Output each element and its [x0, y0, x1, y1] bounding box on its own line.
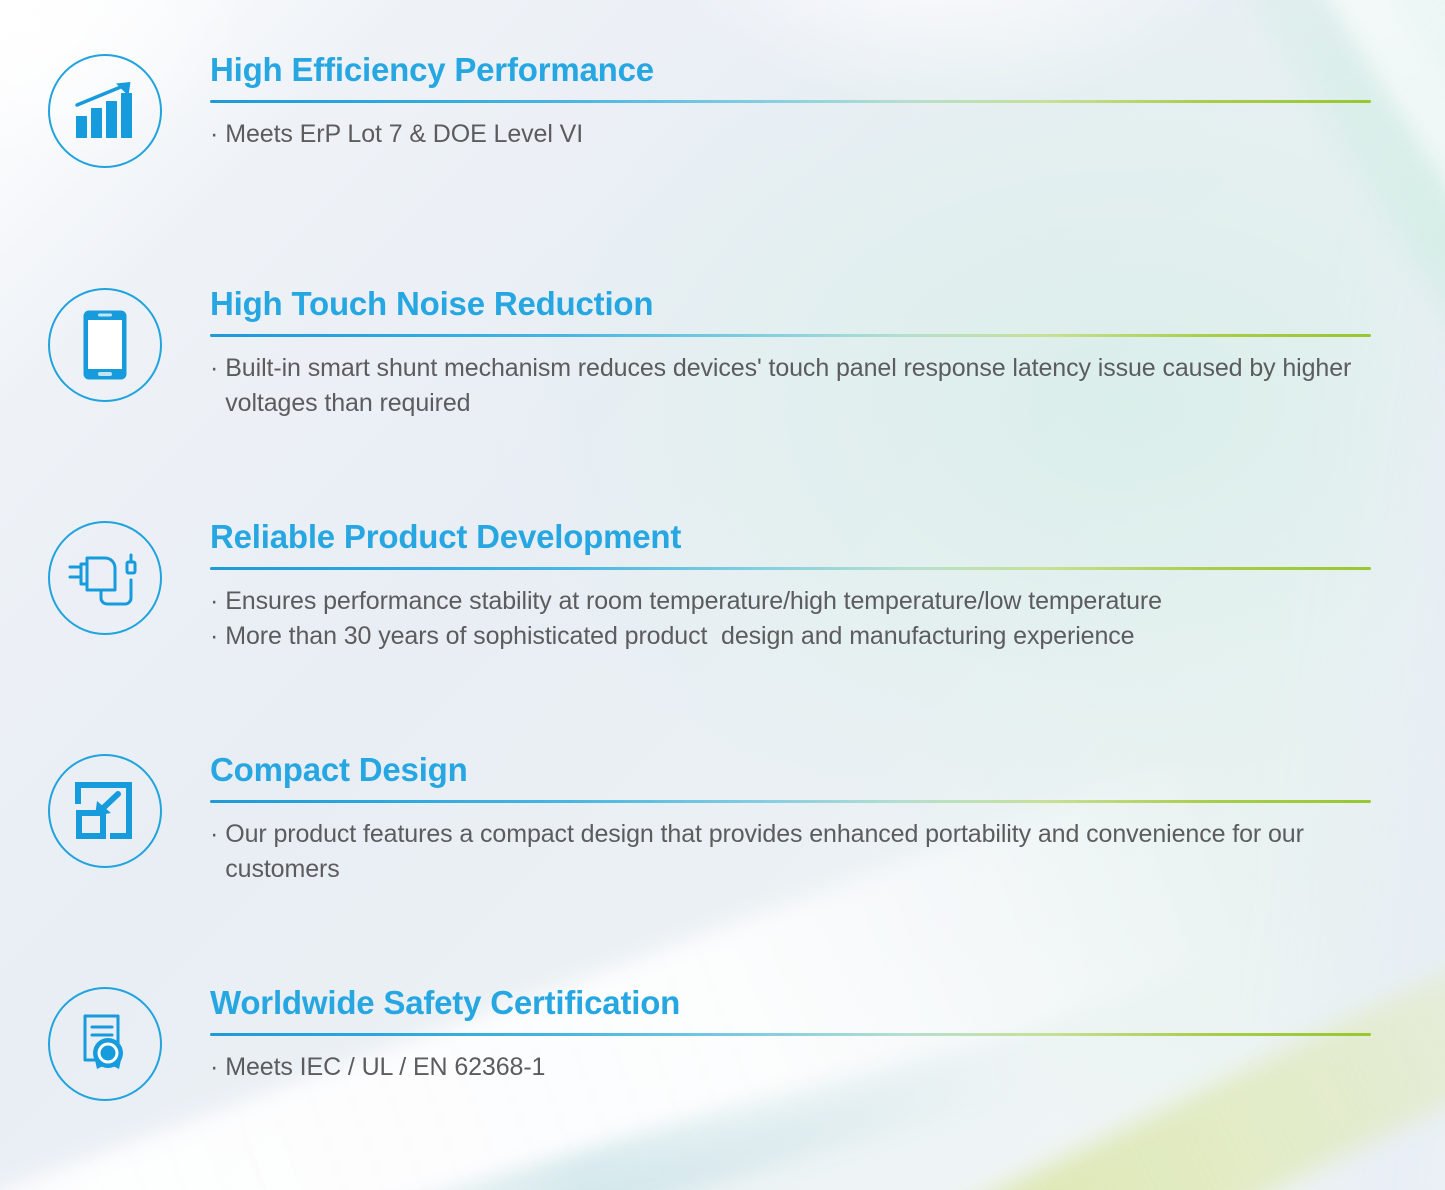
feature-title: High Efficiency Performance — [210, 52, 1371, 89]
feature-text-container: High Touch Noise Reduction · Built-in sm… — [210, 286, 1445, 422]
bullet-item: · More than 30 years of sophisticated pr… — [210, 619, 1371, 655]
feature-icon-container — [0, 985, 210, 1101]
feature-text-container: Reliable Product Development · Ensures p… — [210, 519, 1445, 655]
feature-row-compact-design: Compact Design · Our product features a … — [0, 752, 1445, 888]
bullet-text: Meets ErP Lot 7 & DOE Level VI — [225, 117, 1371, 153]
bullet-item: · Meets ErP Lot 7 & DOE Level VI — [210, 117, 1371, 153]
feature-divider — [210, 100, 1371, 103]
feature-title: High Touch Noise Reduction — [210, 286, 1371, 323]
bar-chart-growth-icon — [48, 54, 162, 168]
feature-bullets: · Ensures performance stability at room … — [210, 584, 1371, 655]
feature-title: Compact Design — [210, 752, 1371, 789]
feature-highlights-page: High Efficiency Performance · Meets ErP … — [0, 0, 1445, 1190]
bullet-marker: · — [210, 351, 218, 387]
bullet-text: Our product features a compact design th… — [225, 817, 1371, 888]
feature-title: Reliable Product Development — [210, 519, 1371, 556]
bullet-text: Built-in smart shunt mechanism reduces d… — [225, 351, 1371, 422]
bullet-marker: · — [210, 584, 218, 620]
smartphone-icon — [48, 288, 162, 402]
bullet-item: · Built-in smart shunt mechanism reduces… — [210, 351, 1371, 422]
bullet-item: · Our product features a compact design … — [210, 817, 1371, 888]
feature-row-high-efficiency-performance: High Efficiency Performance · Meets ErP … — [0, 52, 1445, 168]
bullet-text: More than 30 years of sophisticated prod… — [225, 619, 1371, 655]
feature-bullets: · Built-in smart shunt mechanism reduces… — [210, 351, 1371, 422]
feature-icon-container — [0, 286, 210, 402]
feature-text-container: Worldwide Safety Certification · Meets I… — [210, 985, 1445, 1085]
feature-row-reliable-product-development: Reliable Product Development · Ensures p… — [0, 519, 1445, 655]
bullet-marker: · — [210, 817, 218, 853]
feature-text-container: High Efficiency Performance · Meets ErP … — [210, 52, 1445, 152]
power-adapter-icon — [48, 521, 162, 635]
feature-icon-container — [0, 519, 210, 635]
feature-bullets: · Our product features a compact design … — [210, 817, 1371, 888]
feature-text-container: Compact Design · Our product features a … — [210, 752, 1445, 888]
feature-bullets: · Meets IEC / UL / EN 62368-1 — [210, 1050, 1371, 1086]
feature-divider — [210, 334, 1371, 337]
bullet-text: Ensures performance stability at room te… — [225, 584, 1371, 620]
bullet-marker: · — [210, 619, 218, 655]
compact-resize-icon — [48, 754, 162, 868]
feature-icon-container — [0, 752, 210, 868]
feature-icon-container — [0, 52, 210, 168]
feature-row-worldwide-safety-certification: Worldwide Safety Certification · Meets I… — [0, 985, 1445, 1101]
bullet-marker: · — [210, 117, 218, 153]
bullet-text: Meets IEC / UL / EN 62368-1 — [225, 1050, 1371, 1086]
feature-title: Worldwide Safety Certification — [210, 985, 1371, 1022]
feature-divider — [210, 1033, 1371, 1036]
feature-divider — [210, 567, 1371, 570]
bullet-marker: · — [210, 1050, 218, 1086]
certificate-award-icon — [48, 987, 162, 1101]
bullet-item: · Ensures performance stability at room … — [210, 584, 1371, 620]
feature-row-high-touch-noise-reduction: High Touch Noise Reduction · Built-in sm… — [0, 286, 1445, 422]
feature-bullets: · Meets ErP Lot 7 & DOE Level VI — [210, 117, 1371, 153]
bullet-item: · Meets IEC / UL / EN 62368-1 — [210, 1050, 1371, 1086]
feature-divider — [210, 800, 1371, 803]
